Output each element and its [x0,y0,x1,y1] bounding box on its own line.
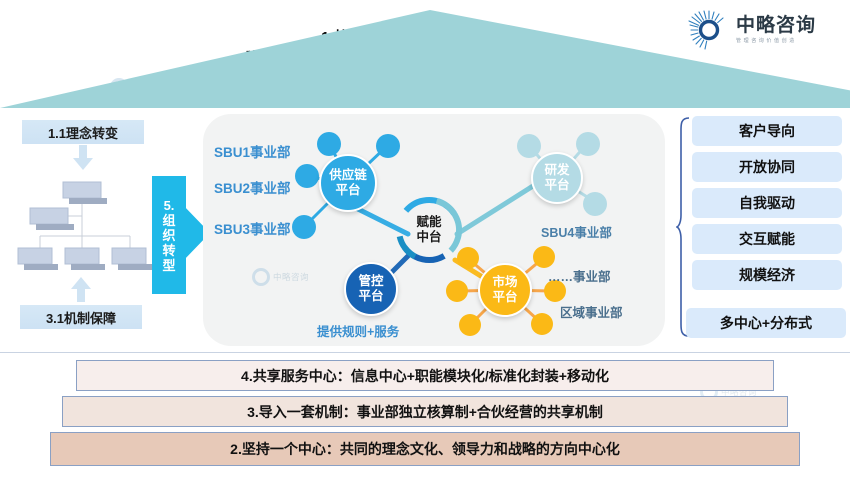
label-sbu1: SBU1事业部 [214,141,291,161]
label-sbu2: SBU2事业部 [214,177,291,197]
transform-char-0: 5. [164,198,175,213]
org-chart-icon [12,178,152,278]
principle-pill-customer-oriented[interactable]: 客户导向 [692,116,842,146]
transform-char-2: 织 [162,228,175,243]
core-platform-label: 赋能 中台 [393,194,465,266]
label-other-division: ……事业部 [548,266,611,285]
principle-pill-scale-economy[interactable]: 规模经济 [692,260,842,290]
hub-supply-label-bottom: 平台 [335,183,360,198]
transform-char-4: 型 [162,258,175,273]
label-sbu3: SBU3事业部 [214,218,291,238]
hub-control-label-top: 管控 [358,274,383,289]
hub-rd-platform[interactable]: 研发 平台 [531,152,583,204]
org-transformation-label: 5. 组 织 转 型 [152,180,186,290]
label-sbu4: SBU4事业部 [541,222,612,241]
principle-pill-multicenter-distributed[interactable]: 多中心+分布式 [686,308,846,338]
section-divider [0,352,850,353]
hub-market-label-top: 市场 [492,275,517,290]
bottom-bar-one-center[interactable]: 2.坚持一个中心：共同的理念文化、领导力和战略的方向中心化 [50,432,800,466]
curly-brace-icon [676,116,690,338]
hub-market-label-bottom: 平台 [492,290,517,305]
org-transformation-arrow[interactable]: 5. 组 织 转 型 [152,176,210,294]
core-label-top: 赋能 [416,215,441,230]
chip-concept-change[interactable]: 1.1理念转变 [22,120,144,144]
hub-supply-label-top: 供应链 [329,168,367,183]
hub-rd-label-bottom: 平台 [544,178,569,193]
bottom-bar-shared-service-center[interactable]: 4.共享服务中心：信息中心+职能模块化/标准化封装+移动化 [76,360,774,391]
transform-char-3: 转 [162,243,175,258]
hub-control-label-bottom: 平台 [358,289,383,304]
slide-canvas: 中略咨询 管理咨询价值创造 1.战略引领+理念先行+目标明确 建设目标：前端牵引… [0,0,850,487]
hub-rd-label-top: 研发 [544,163,569,178]
caption-control-platform: 提供规则+服务 [317,321,399,340]
hub-control-platform[interactable]: 管控 平台 [344,262,398,316]
hub-supply-chain-platform[interactable]: 供应链 平台 [319,154,377,212]
principle-pill-open-collaboration[interactable]: 开放协同 [692,152,842,182]
core-label-bottom: 中台 [416,230,441,245]
transform-char-1: 组 [162,213,175,228]
principle-pill-interactive-empowerment[interactable]: 交互赋能 [692,224,842,254]
hub-market-platform[interactable]: 市场 平台 [478,263,532,317]
bottom-bar-mechanism[interactable]: 3.导入一套机制：事业部独立核算制+合伙经营的共享机制 [62,396,788,427]
label-regional-division: 区域事业部 [560,302,623,321]
principle-pill-self-driven[interactable]: 自我驱动 [692,188,842,218]
arrow-up-icon [68,277,94,303]
chip-mechanism-guarantee[interactable]: 3.1机制保障 [20,305,142,329]
arrow-down-icon [70,145,96,171]
